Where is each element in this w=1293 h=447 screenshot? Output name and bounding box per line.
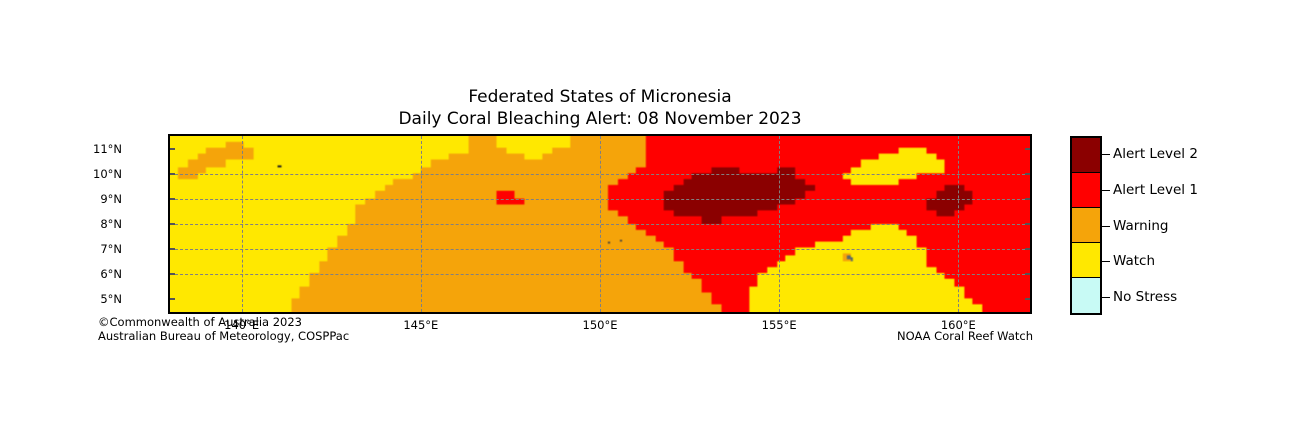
legend-label: Alert Level 2	[1113, 146, 1198, 162]
y-axis-tick-label: 9°N	[78, 192, 122, 206]
y-axis-tick-right	[1025, 148, 1030, 150]
y-axis-tick-label: 7°N	[78, 242, 122, 256]
gridline-horizontal	[170, 274, 1030, 275]
y-axis-tick	[170, 223, 175, 225]
gridline-horizontal	[170, 224, 1030, 225]
gridline-horizontal	[170, 199, 1030, 200]
attribution-left: ©Commonwealth of Australia 2023 Australi…	[98, 315, 349, 343]
y-axis-tick-right	[1025, 223, 1030, 225]
y-axis-tick-right	[1025, 273, 1030, 275]
chart-title: Federated States of Micronesia Daily Cor…	[0, 86, 1200, 130]
y-axis-tick-label: 8°N	[78, 217, 122, 231]
legend-tick	[1102, 261, 1110, 262]
y-axis-tick	[170, 273, 175, 275]
x-axis-tick-label: 150°E	[583, 318, 618, 332]
legend-tick	[1102, 154, 1110, 155]
y-axis-tick-label: 11°N	[78, 142, 122, 156]
y-axis-tick	[170, 148, 175, 150]
legend-tick	[1102, 297, 1110, 298]
x-axis-tick-label: 155°E	[762, 318, 797, 332]
y-axis-tick-label: 10°N	[78, 167, 122, 181]
y-axis-tick-label: 5°N	[78, 292, 122, 306]
coral-bleaching-alert-map	[168, 134, 1032, 314]
gridline-horizontal	[170, 174, 1030, 175]
y-axis-tick	[170, 248, 175, 250]
x-axis-tick-label: 145°E	[403, 318, 438, 332]
gridline-horizontal	[170, 249, 1030, 250]
legend-swatch	[1072, 208, 1100, 243]
legend-label: Watch	[1113, 253, 1155, 269]
y-axis-tick	[170, 298, 175, 300]
legend-swatch	[1072, 138, 1100, 173]
attribution-agency: Australian Bureau of Meteorology, COSPPa…	[98, 329, 349, 343]
y-axis-tick-right	[1025, 173, 1030, 175]
legend-label: Alert Level 1	[1113, 182, 1198, 198]
y-axis-tick-right	[1025, 248, 1030, 250]
legend-swatch	[1072, 243, 1100, 278]
y-axis-tick	[170, 173, 175, 175]
alert-level-colorbar	[1070, 136, 1102, 315]
attribution-copyright: ©Commonwealth of Australia 2023	[98, 315, 349, 329]
legend-swatch	[1072, 278, 1100, 313]
title-line-1: Federated States of Micronesia	[0, 86, 1200, 108]
title-line-2: Daily Coral Bleaching Alert: 08 November…	[0, 108, 1200, 130]
legend-swatch	[1072, 173, 1100, 208]
y-axis-tick	[170, 198, 175, 200]
y-axis-tick-right	[1025, 298, 1030, 300]
legend-label: Warning	[1113, 218, 1169, 234]
legend-tick	[1102, 226, 1110, 227]
legend-label: No Stress	[1113, 289, 1177, 305]
y-axis-tick-label: 6°N	[78, 267, 122, 281]
attribution-right: NOAA Coral Reef Watch	[897, 329, 1033, 343]
y-axis-tick-right	[1025, 198, 1030, 200]
legend-tick	[1102, 190, 1110, 191]
